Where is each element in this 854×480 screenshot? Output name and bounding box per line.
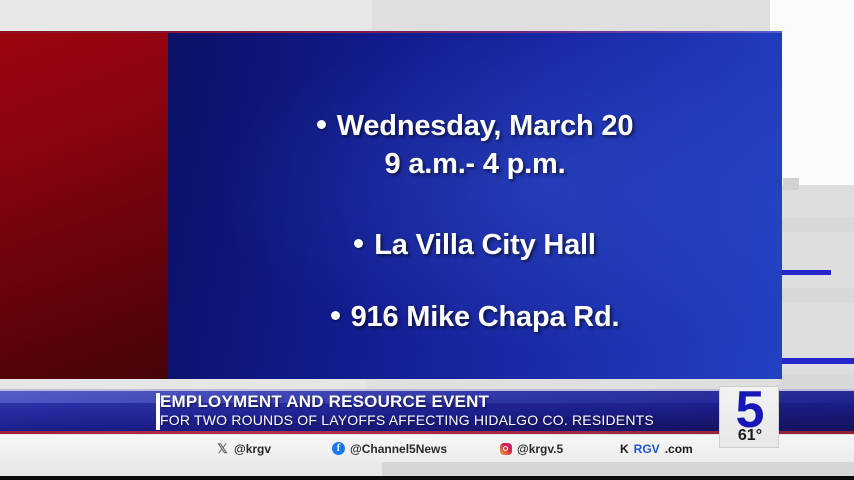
social-handle-x: @krgv xyxy=(234,442,271,456)
red-gradient-panel xyxy=(0,33,168,379)
social-handle-facebook: @Channel5News xyxy=(350,442,447,456)
bullet-venue-label: La Villa City Hall xyxy=(374,229,596,261)
banner-headline: EMPLOYMENT AND RESOURCE EVENT xyxy=(160,392,654,412)
bullet-dot-icon xyxy=(317,120,326,129)
event-details-slide: Wednesday, March 20 9 a.m.- 4 p.m. La Vi… xyxy=(180,33,770,379)
social-handle-instagram: @krgv.5 xyxy=(517,442,563,456)
temperature-readout: 61° xyxy=(720,427,779,445)
social-item-website: KRGV.com xyxy=(620,442,693,456)
bullet-dot-icon xyxy=(331,311,340,320)
background-blue-rule-1 xyxy=(781,270,831,275)
social-item-instagram: @krgv.5 xyxy=(500,442,563,456)
social-item-x: 𝕏 @krgv xyxy=(216,442,271,456)
bullet-date-line1: Wednesday, March 20 xyxy=(337,110,634,142)
station-logo-bug: 5 61° xyxy=(719,386,779,448)
bullet-date-line2: 9 a.m.- 4 p.m. xyxy=(317,145,634,183)
social-item-facebook: f @Channel5News xyxy=(332,442,447,456)
background-bottom-left-area xyxy=(0,462,382,476)
website-k: K xyxy=(620,442,629,456)
bullet-item-date: Wednesday, March 20 9 a.m.- 4 p.m. xyxy=(317,107,634,184)
banner-text-group: EMPLOYMENT AND RESOURCE EVENT FOR TWO RO… xyxy=(160,392,654,429)
background-band-2 xyxy=(780,288,854,302)
bullet-item-address: 916 Mike Chapa Rd. xyxy=(331,298,620,336)
broadcast-screenshot: Wednesday, March 20 9 a.m.- 4 p.m. La Vi… xyxy=(0,0,854,480)
bullet-address-label: 916 Mike Chapa Rd. xyxy=(351,301,620,333)
background-blue-rule-2 xyxy=(781,358,854,364)
background-top-left-area xyxy=(0,0,372,31)
banner-subhead: FOR TWO ROUNDS OF LAYOFFS AFFECTING HIDA… xyxy=(160,412,654,429)
instagram-icon xyxy=(500,443,512,455)
banner-accent-tick xyxy=(156,393,160,430)
background-bottom-right-area xyxy=(382,462,854,476)
broadcast-graphic: Wednesday, March 20 9 a.m.- 4 p.m. La Vi… xyxy=(0,31,782,379)
background-grey-chip xyxy=(783,178,799,190)
bullet-dot-icon xyxy=(354,239,363,248)
bullet-item-venue: La Villa City Hall xyxy=(354,226,596,264)
x-twitter-icon: 𝕏 xyxy=(216,442,229,455)
facebook-icon: f xyxy=(332,442,345,455)
website-com: .com xyxy=(665,442,693,456)
background-bottom-bar xyxy=(0,476,854,480)
website-rgv: RGV xyxy=(634,442,660,456)
background-white-block xyxy=(770,0,854,185)
background-band-1 xyxy=(780,218,854,232)
